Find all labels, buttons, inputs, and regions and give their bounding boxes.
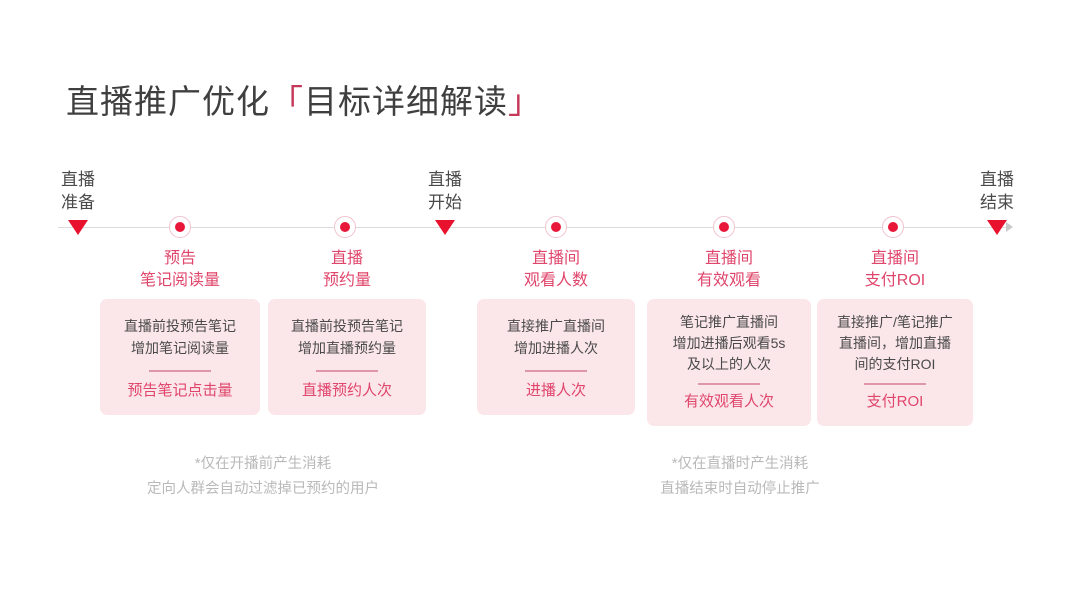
- objective-card-4-description: 笔记推广直播间 增加进播后观看5s 及以上的人次: [653, 312, 805, 375]
- footnote-pre-live: *仅在开播前产生消耗 定向人群会自动过滤掉已预约的用户: [103, 452, 423, 502]
- timeline-node-3[interactable]: [545, 216, 567, 238]
- objective-card-5-description-line2: 直播间，增加直播: [823, 333, 967, 354]
- timeline-node-2[interactable]: [334, 216, 356, 238]
- timeline-middle-label-line2: 开始: [385, 191, 505, 214]
- objective-card-5-body[interactable]: 直接推广/笔记推广 直播间，增加直播 间的支付ROI 支付ROI: [817, 299, 973, 426]
- objective-card-1-description-line1: 直播前投预告笔记: [106, 315, 254, 337]
- timeline-axis: [58, 227, 1006, 228]
- objective-card-1-metric: 预告笔记点击量: [106, 381, 254, 401]
- objective-card-1-description-line2: 增加笔记阅读量: [106, 337, 254, 359]
- objective-card-5-header-line1: 直播间: [817, 248, 973, 270]
- objective-card-4[interactable]: 直播间 有效观看 笔记推广直播间 增加进播后观看5s 及以上的人次 有效观看人次: [647, 248, 811, 426]
- objective-card-1-description: 直播前投预告笔记 增加笔记阅读量: [106, 315, 254, 359]
- objective-card-2-header: 直播 预约量: [268, 248, 426, 292]
- objective-card-2[interactable]: 直播 预约量 直播前投预告笔记 增加直播预约量 直播预约人次: [268, 248, 426, 415]
- timeline-node-4[interactable]: [713, 216, 735, 238]
- footnote-during-live: *仅在直播时产生消耗 直播结束时自动停止推广: [620, 452, 860, 502]
- footnote-pre-live-line1: *仅在开播前产生消耗: [103, 452, 423, 477]
- objective-card-4-description-line3: 及以上的人次: [653, 354, 805, 375]
- objective-card-3-header: 直播间 观看人数: [477, 248, 635, 292]
- footnote-during-live-line1: *仅在直播时产生消耗: [620, 452, 860, 477]
- objective-card-1[interactable]: 预告 笔记阅读量 直播前投预告笔记 增加笔记阅读量 预告笔记点击量: [100, 248, 260, 415]
- objective-card-4-header-line2: 有效观看: [647, 270, 811, 292]
- objective-card-1-header: 预告 笔记阅读量: [100, 248, 260, 292]
- objective-card-4-body[interactable]: 笔记推广直播间 增加进播后观看5s 及以上的人次 有效观看人次: [647, 299, 811, 426]
- timeline-node-5[interactable]: [882, 216, 904, 238]
- timeline-end-label: 直播 结束: [937, 168, 1057, 214]
- objective-card-2-body[interactable]: 直播前投预告笔记 增加直播预约量 直播预约人次: [268, 299, 426, 415]
- objective-card-3-description-line2: 增加进播人次: [483, 337, 629, 359]
- objective-card-2-description-line2: 增加直播预约量: [274, 337, 420, 359]
- objective-card-2-description: 直播前投预告笔记 增加直播预约量: [274, 315, 420, 359]
- objective-card-2-header-line2: 预约量: [268, 270, 426, 292]
- objective-card-3-body[interactable]: 直接推广直播间 增加进播人次 进播人次: [477, 299, 635, 415]
- objective-card-5-description-line1: 直接推广/笔记推广: [823, 312, 967, 333]
- objective-card-1-header-line2: 笔记阅读量: [100, 270, 260, 292]
- objective-card-2-description-line1: 直播前投预告笔记: [274, 315, 420, 337]
- objective-card-1-divider: [149, 370, 211, 372]
- timeline-start-triangle-icon: [68, 220, 88, 235]
- footnote-pre-live-line2: 定向人群会自动过滤掉已预约的用户: [103, 477, 423, 502]
- objective-card-4-metric: 有效观看人次: [653, 392, 805, 412]
- timeline-middle-label: 直播 开始: [385, 168, 505, 214]
- objective-card-3-header-line2: 观看人数: [477, 270, 635, 292]
- objective-card-4-divider: [698, 383, 760, 385]
- objective-card-3[interactable]: 直播间 观看人数 直接推广直播间 增加进播人次 进播人次: [477, 248, 635, 415]
- timeline-middle-triangle-icon: [435, 220, 455, 235]
- objective-card-3-divider: [525, 370, 587, 372]
- objective-card-3-description: 直接推广直播间 增加进播人次: [483, 315, 629, 359]
- timeline-end-label-line1: 直播: [937, 168, 1057, 191]
- objective-card-2-divider: [316, 370, 378, 372]
- objective-card-3-description-line1: 直接推广直播间: [483, 315, 629, 337]
- timeline-node-1[interactable]: [169, 216, 191, 238]
- objective-card-4-description-line2: 增加进播后观看5s: [653, 333, 805, 354]
- objective-card-5-metric: 支付ROI: [823, 392, 967, 412]
- timeline-start-label-line2: 准备: [18, 191, 138, 214]
- objective-card-1-body[interactable]: 直播前投预告笔记 增加笔记阅读量 预告笔记点击量: [100, 299, 260, 415]
- objective-card-4-header-line1: 直播间: [647, 248, 811, 270]
- objective-card-2-metric: 直播预约人次: [274, 381, 420, 401]
- timeline-start-label-line1: 直播: [18, 168, 138, 191]
- objective-card-5-header: 直播间 支付ROI: [817, 248, 973, 292]
- footnote-during-live-line2: 直播结束时自动停止推广: [620, 477, 860, 502]
- timeline-arrow-icon: [1006, 222, 1013, 232]
- objective-card-2-header-line1: 直播: [268, 248, 426, 270]
- objective-card-5-divider: [864, 383, 926, 385]
- objective-card-3-metric: 进播人次: [483, 381, 629, 401]
- objective-card-1-header-line1: 预告: [100, 248, 260, 270]
- timeline-end-label-line2: 结束: [937, 191, 1057, 214]
- timeline-end-triangle-icon: [987, 220, 1007, 235]
- objective-card-3-header-line1: 直播间: [477, 248, 635, 270]
- objective-card-4-description-line1: 笔记推广直播间: [653, 312, 805, 333]
- objective-card-5-description: 直接推广/笔记推广 直播间，增加直播 间的支付ROI: [823, 312, 967, 375]
- timeline-start-label: 直播 准备: [18, 168, 138, 214]
- objective-card-5-description-line3: 间的支付ROI: [823, 354, 967, 375]
- objective-card-5-header-line2: 支付ROI: [817, 270, 973, 292]
- objective-card-5[interactable]: 直播间 支付ROI 直接推广/笔记推广 直播间，增加直播 间的支付ROI 支付R…: [817, 248, 973, 426]
- timeline-middle-label-line1: 直播: [385, 168, 505, 191]
- objective-card-4-header: 直播间 有效观看: [647, 248, 811, 292]
